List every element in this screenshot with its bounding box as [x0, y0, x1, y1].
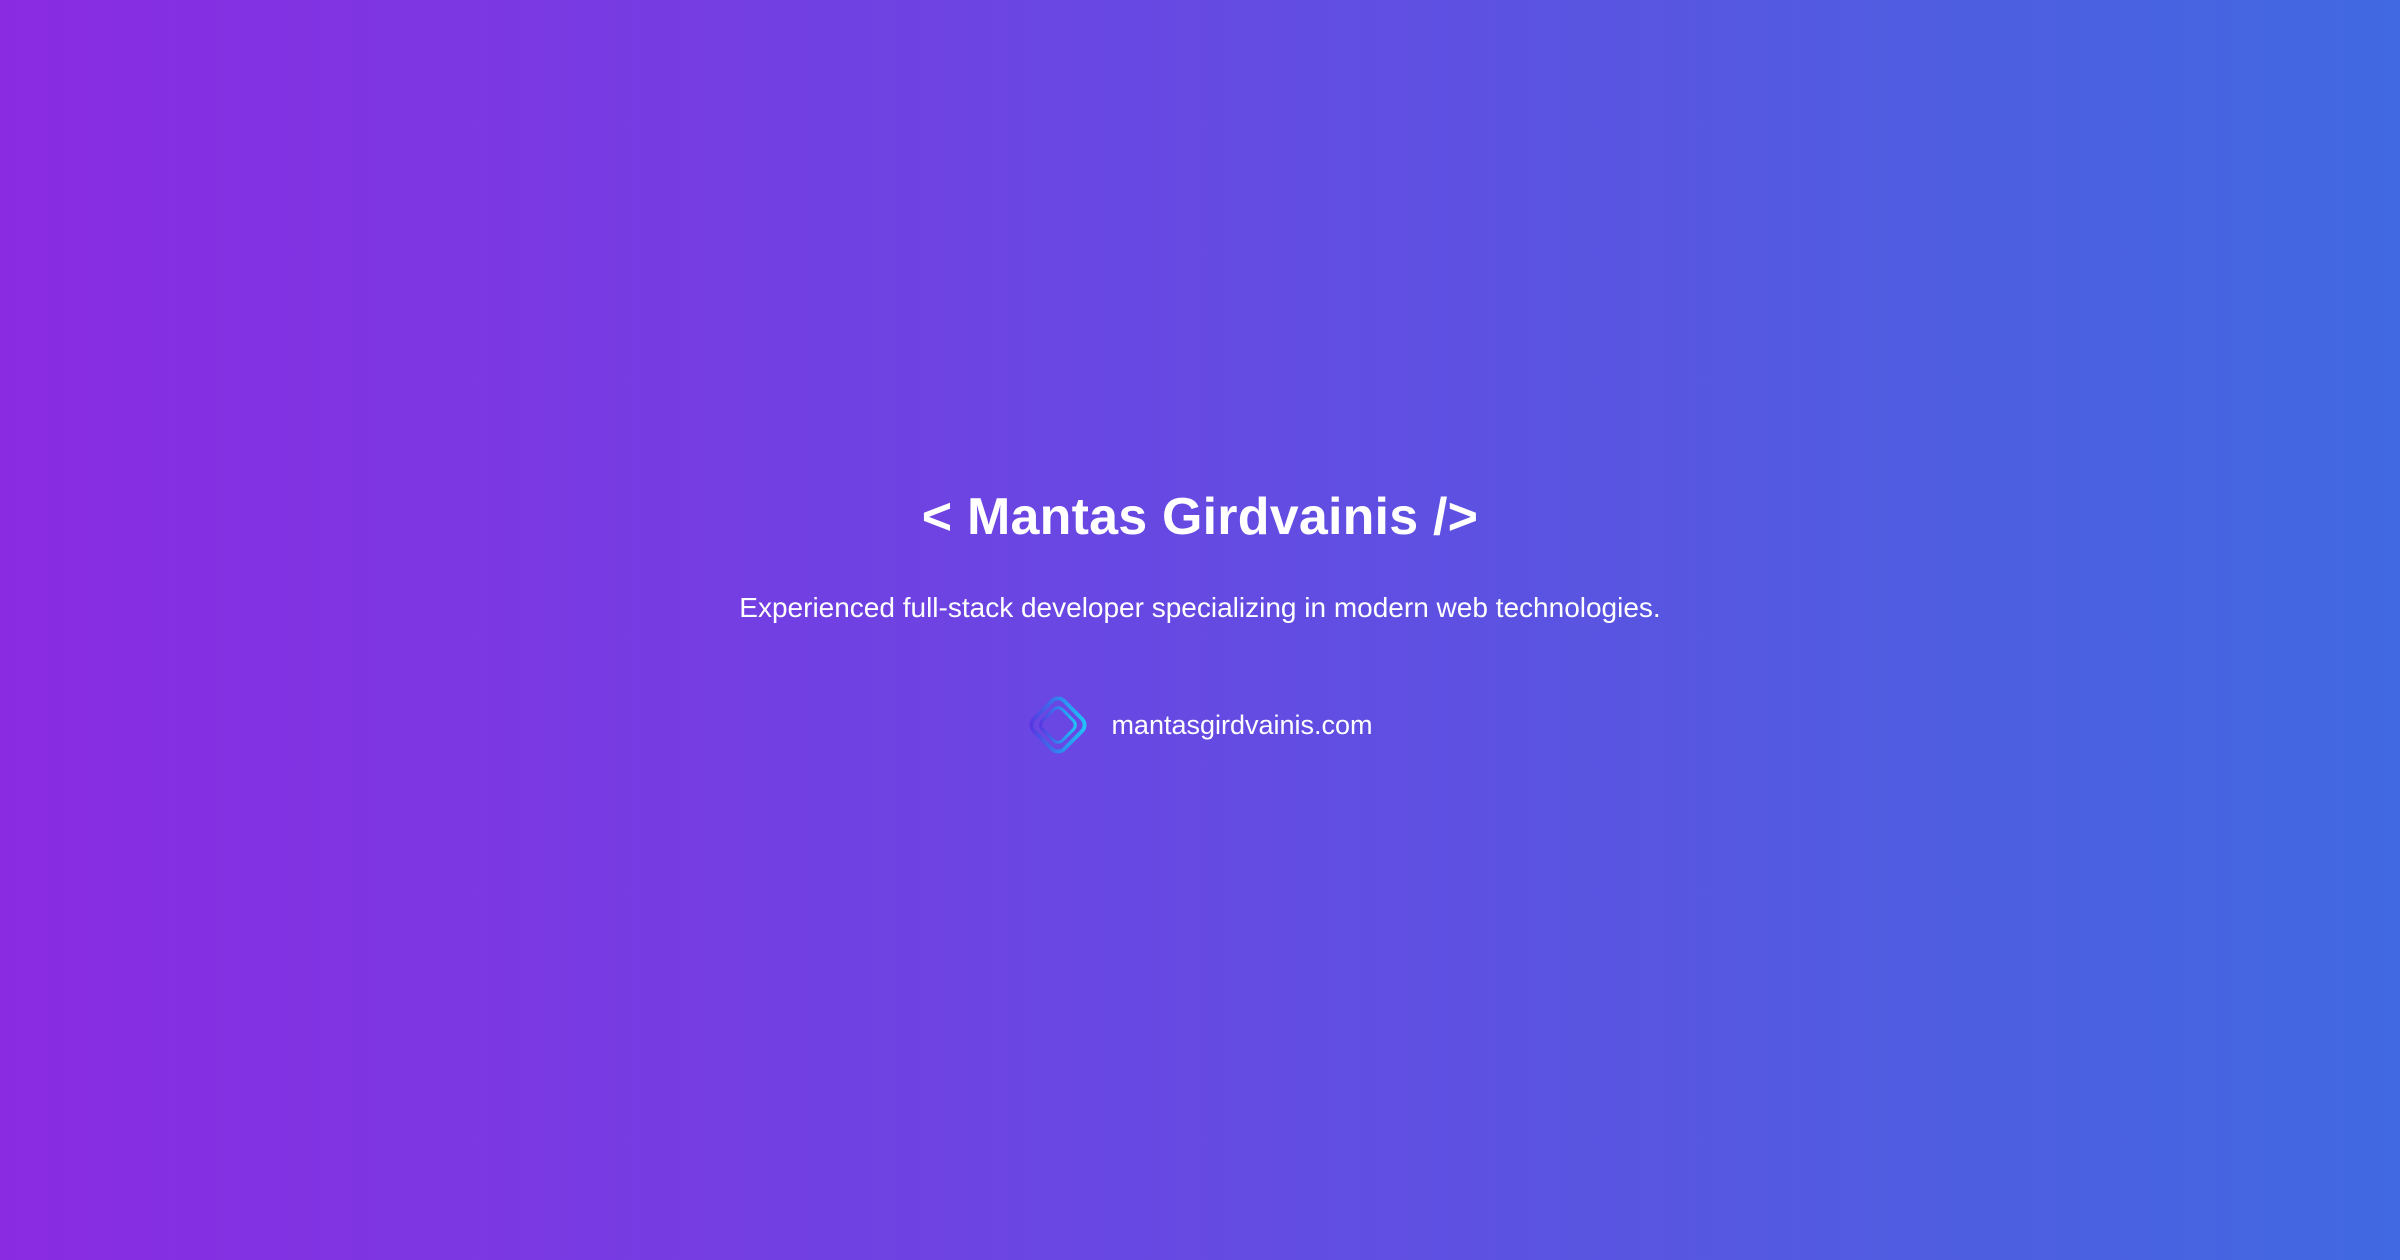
brand-row: mantasgirdvainis.com: [1027, 626, 1372, 756]
nested-diamond-logo-icon: [1027, 694, 1089, 756]
page-subtitle: Experienced full-stack developer special…: [739, 548, 1660, 626]
page-title: < Mantas Girdvainis />: [922, 488, 1478, 548]
og-card: < Mantas Girdvainis /> Experienced full-…: [0, 0, 2400, 1260]
site-url-label: mantasgirdvainis.com: [1111, 712, 1372, 739]
nested-diamond-logo-svg: [1027, 694, 1089, 756]
hero-block: < Mantas Girdvainis /> Experienced full-…: [0, 488, 2400, 756]
